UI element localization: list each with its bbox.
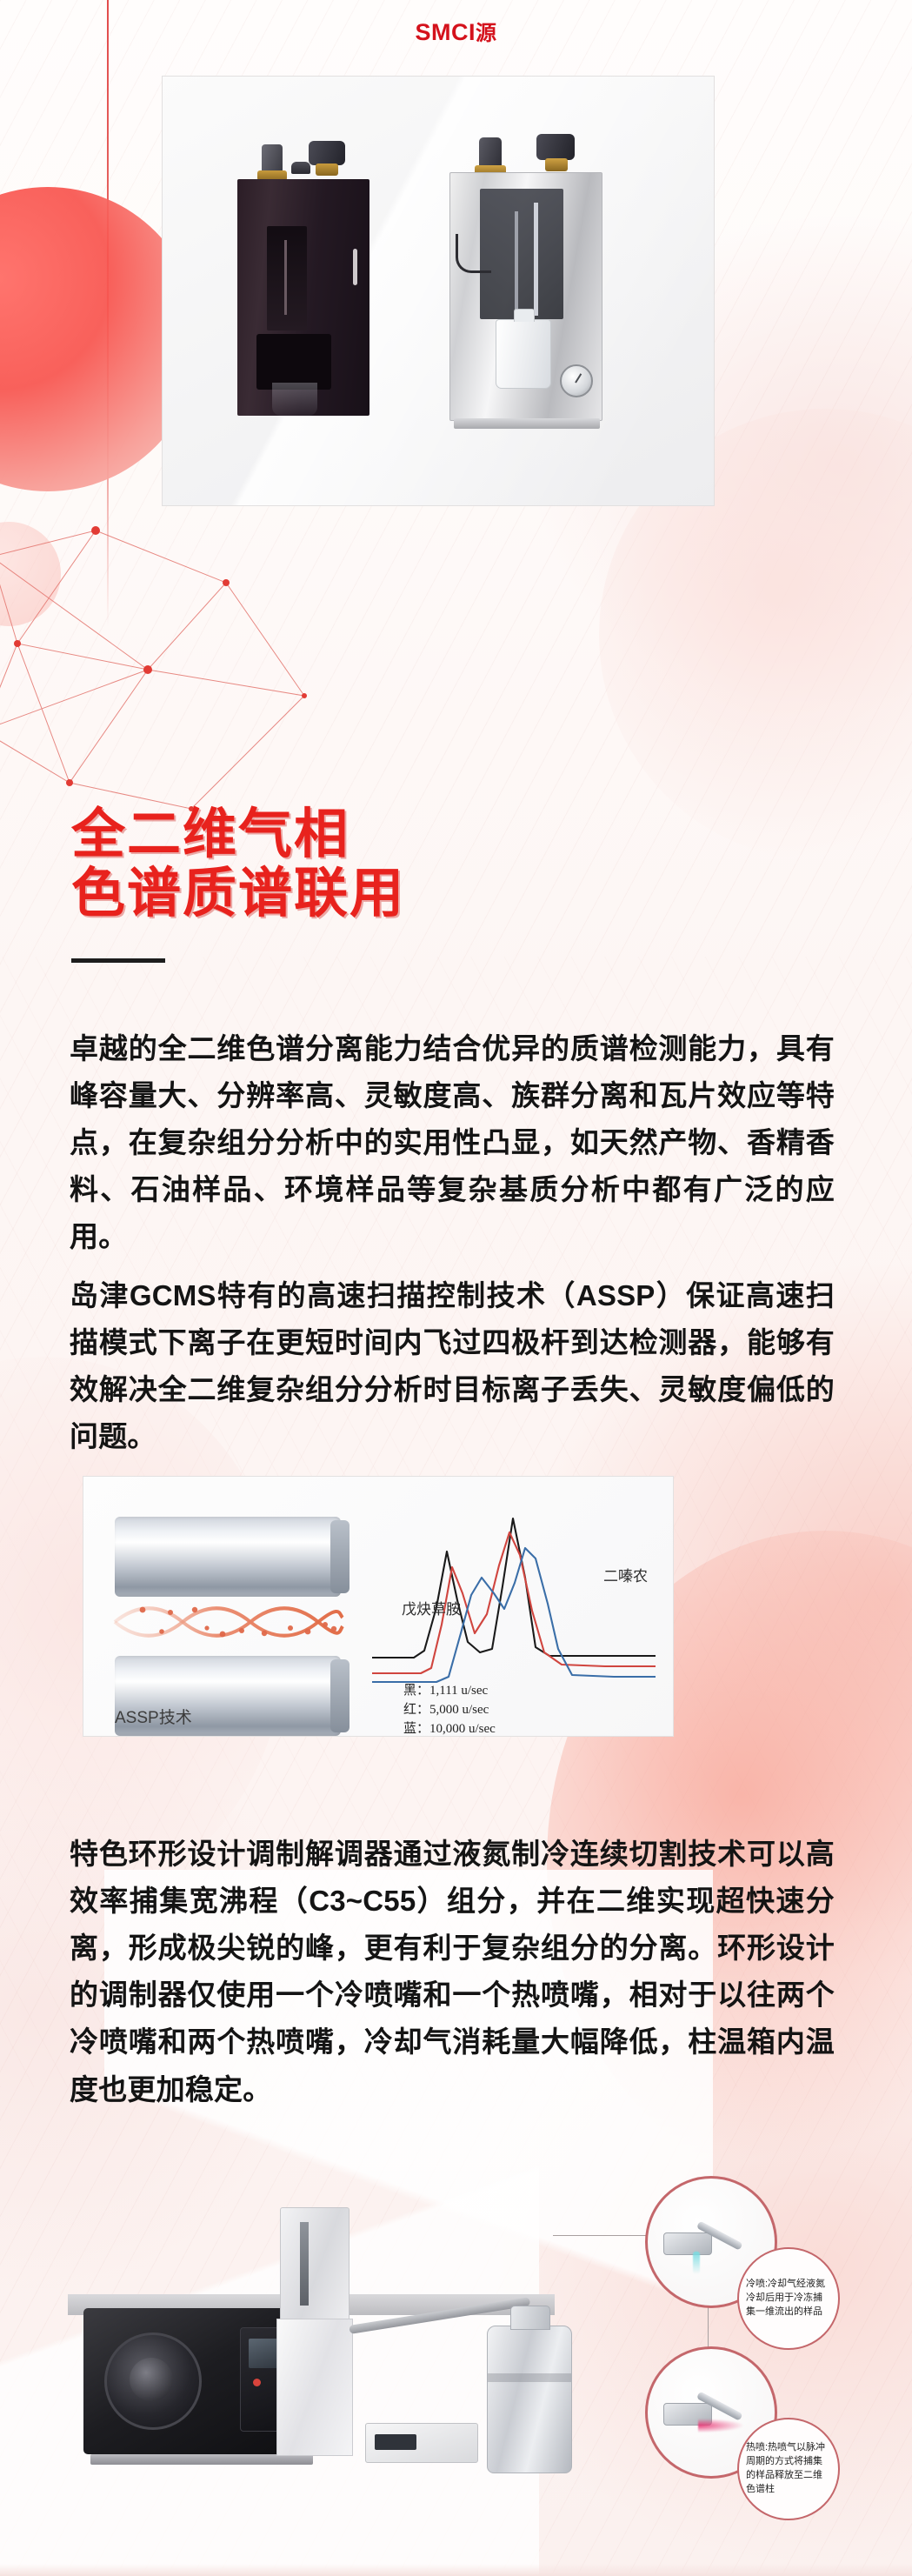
vertical-red-line xyxy=(107,0,109,626)
footer-fade xyxy=(0,2564,912,2576)
instrument-rod xyxy=(284,240,287,315)
inside-body-steel xyxy=(449,172,602,421)
dewar-band xyxy=(488,2373,571,2382)
outside-view-instrument xyxy=(237,137,369,416)
callout-leader-horizontal xyxy=(553,2235,647,2236)
inside-rod-b xyxy=(534,203,538,316)
hot-jet-spray xyxy=(698,2419,743,2433)
hot-jet-callout-text: 热喷:热喷气以脉冲周期的方式将捕集的样品释放至二维色谱柱 xyxy=(737,2418,840,2520)
liquid-nitrogen-dewar xyxy=(487,2326,572,2473)
chart-annotation-peak-2: 二嗪农 xyxy=(603,1564,648,1585)
inside-knob-a xyxy=(479,137,502,167)
assp-technology-panel: ASSP技术 戊炔草胺 二嗪农 黑：1,111 u/sec 红：5,000 u/… xyxy=(83,1476,674,1737)
ms-detector-tower xyxy=(280,2207,349,2322)
inside-sample-bottle xyxy=(496,319,551,389)
brand-logo-en: SMCI xyxy=(416,19,476,45)
inside-window xyxy=(480,189,563,319)
inside-knob-b xyxy=(536,134,575,160)
ms-column-housing xyxy=(276,2319,353,2456)
page-title: 全二维气相 色谱质谱联用 xyxy=(71,805,405,924)
inside-view-instrument xyxy=(449,132,602,421)
instrument-knob-b xyxy=(309,141,345,165)
inside-cable xyxy=(456,234,491,273)
network-lines-graphic xyxy=(0,522,330,835)
paragraph-2: 岛津GCMS特有的高速扫描控制技术（ASSP）保证高速扫描模式下离子在更短时间内… xyxy=(70,1272,835,1460)
modulator-system-figure: 冷喷:冷却气经液氮冷却后用于冷冻捕集一维流出的样品 热喷:热喷气以脉冲周期的方式… xyxy=(0,2172,912,2555)
cold-jet-callout-text: 冷喷:冷却气经液氮冷却后用于冷冻捕集一维流出的样品 xyxy=(737,2247,840,2350)
page-title-line-2: 色谱质谱联用 xyxy=(71,864,405,924)
product-photo-card xyxy=(162,76,715,506)
pink-sphere-graphic xyxy=(0,522,61,626)
instrument-glass-vessel xyxy=(272,383,317,416)
hot-nozzle-graphic xyxy=(663,2389,738,2426)
chart-annotation-peak-1: 戊炔草胺 xyxy=(402,1597,461,1618)
assp-chromatogram-chart xyxy=(370,1503,657,1685)
brand-logo: SMCI源 xyxy=(0,16,912,46)
legend-item-blue: 蓝：10,000 u/sec xyxy=(403,1720,496,1739)
cold-jet-spray xyxy=(693,2252,700,2274)
cold-nozzle-graphic xyxy=(663,2219,738,2255)
callout-leader-vertical xyxy=(708,2303,709,2348)
instrument-body-dark xyxy=(237,179,369,416)
gc-oven-door xyxy=(104,2332,202,2430)
inside-foot xyxy=(454,418,600,429)
brand-logo-cn: 源 xyxy=(476,22,497,45)
assp-tech-label: ASSP技术 xyxy=(115,1705,192,1728)
paragraph-1: 卓越的全二维色谱分离能力结合优异的质谱检测能力，具有峰容量大、分辨率高、灵敏度高… xyxy=(70,1025,835,1261)
page-title-line-1: 全二维气相 xyxy=(71,804,349,864)
paragraph-3: 特色环形设计调制解调器通过液氮制冷连续切割技术可以高效率捕集宽沸程（C3~C55… xyxy=(70,1831,835,2113)
instrument-knob-a xyxy=(262,144,283,172)
inside-rod-a xyxy=(515,211,518,316)
instrument-slot xyxy=(353,249,357,285)
controller-box xyxy=(365,2423,478,2463)
instrument-inner-chamber xyxy=(267,226,307,330)
assp-quadrupole-rod-top xyxy=(115,1517,341,1597)
assp-ion-helix-graphic xyxy=(111,1602,344,1642)
instrument-knob-c xyxy=(291,162,310,174)
chart-legend: 黑：1,111 u/sec 红：5,000 u/sec 蓝：10,000 u/s… xyxy=(403,1682,496,1739)
gc-status-led xyxy=(253,2379,261,2386)
legend-item-red: 红：5,000 u/sec xyxy=(403,1701,496,1720)
instrument-base-block xyxy=(256,334,331,390)
title-divider xyxy=(71,958,165,963)
pressure-gauge xyxy=(560,364,593,397)
legend-item-black: 黑：1,111 u/sec xyxy=(403,1682,496,1701)
cold-nozzle-body xyxy=(663,2232,712,2255)
